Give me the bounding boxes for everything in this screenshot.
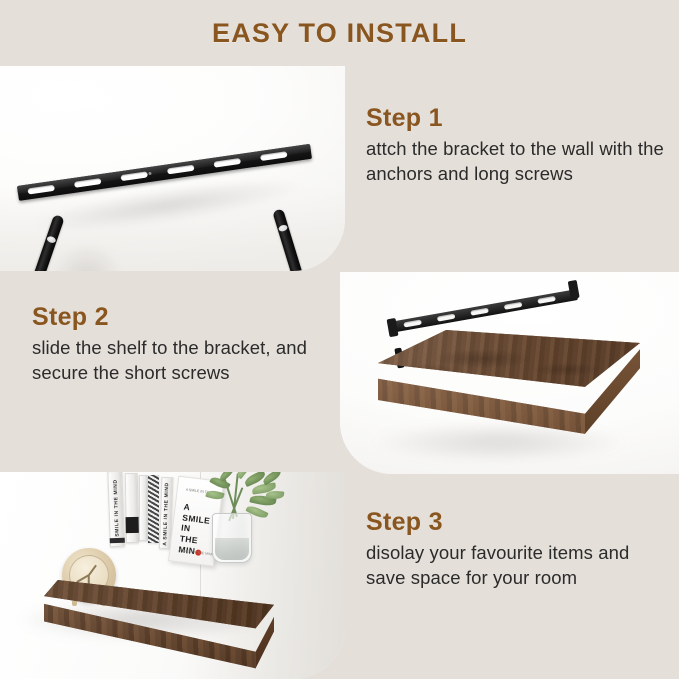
arm-shadow xyxy=(52,242,122,271)
book-spine-band xyxy=(126,517,139,533)
rail-slot xyxy=(437,314,456,322)
page-title: EASY TO INSTALL xyxy=(212,18,467,49)
step-3-text: Step 3 disolay your favourite items and … xyxy=(366,508,671,591)
step-1-text: Step 1 attch the bracket to the wall wit… xyxy=(366,104,666,187)
walnut-shelf xyxy=(44,580,274,672)
step-2-image-panel xyxy=(340,272,679,474)
header: EASY TO INSTALL xyxy=(0,0,679,66)
clock-hand xyxy=(88,565,97,576)
step-1-body: attch the bracket to the wall with the a… xyxy=(366,137,666,187)
book-spine xyxy=(148,475,159,543)
book-spine-pattern xyxy=(148,475,159,543)
rail-slot xyxy=(403,319,422,327)
step-3-image-panel: A SMILE IN THE MIND A SMILE IN THE MIND … xyxy=(0,472,345,679)
rod-screw-icon xyxy=(46,235,56,244)
book-spine: A SMILE IN THE MIND xyxy=(107,472,125,547)
step-2-label: Step 2 xyxy=(32,303,332,332)
step-1-image-panel xyxy=(0,66,345,271)
step-3-body: disolay your favourite items and save sp… xyxy=(366,541,671,591)
step-2-text: Step 2 slide the shelf to the bracket, a… xyxy=(32,303,332,386)
book-spine xyxy=(125,473,139,543)
book-spine-band xyxy=(110,538,125,544)
step-1-label: Step 1 xyxy=(366,104,666,133)
book-spine xyxy=(139,475,148,541)
step-3-label: Step 3 xyxy=(366,508,671,537)
rod-screw-icon xyxy=(278,224,288,232)
walnut-shelf xyxy=(378,330,640,440)
rail-slot xyxy=(537,296,556,304)
rail-slot xyxy=(504,302,523,310)
step-2-body: slide the shelf to the bracket, and secu… xyxy=(32,336,332,386)
vase-water xyxy=(215,538,249,560)
book-spine-face xyxy=(139,475,148,541)
glass-vase xyxy=(212,513,252,563)
rail-slot xyxy=(470,308,489,316)
